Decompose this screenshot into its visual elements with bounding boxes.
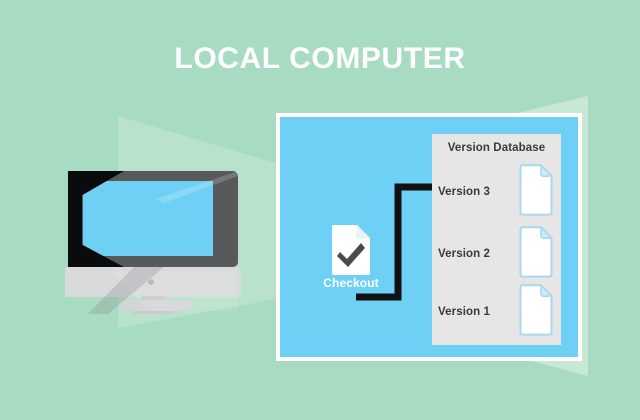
power-indicator-dot bbox=[148, 279, 154, 285]
desktop-monitor-icon bbox=[60, 168, 240, 310]
monitor-screen bbox=[80, 181, 213, 256]
checkout-item[interactable]: Checkout bbox=[316, 224, 386, 290]
diagram-canvas: LOCAL COMPUTER bbox=[0, 0, 640, 420]
version-label: Version 2 bbox=[438, 248, 490, 260]
page-title: LOCAL COMPUTER bbox=[0, 44, 640, 74]
document-icon bbox=[519, 284, 553, 336]
version-database-box: Version Database Version 3 Version 2 Ver… bbox=[432, 134, 561, 345]
version-label: Version 1 bbox=[438, 306, 490, 318]
checkout-label: Checkout bbox=[308, 276, 394, 290]
document-icon bbox=[519, 164, 553, 216]
version-database-title: Version Database bbox=[432, 142, 561, 154]
version-label: Version 3 bbox=[438, 186, 490, 198]
version-row[interactable]: Version 2 bbox=[436, 226, 561, 282]
document-icon bbox=[519, 226, 553, 278]
document-checkmark-icon bbox=[330, 224, 372, 276]
version-row[interactable]: Version 1 bbox=[436, 284, 561, 340]
monitor-stand-base bbox=[120, 300, 190, 311]
version-row[interactable]: Version 3 bbox=[436, 164, 561, 220]
local-computer-panel: Checkout Version Database Version 3 Vers… bbox=[276, 113, 582, 361]
